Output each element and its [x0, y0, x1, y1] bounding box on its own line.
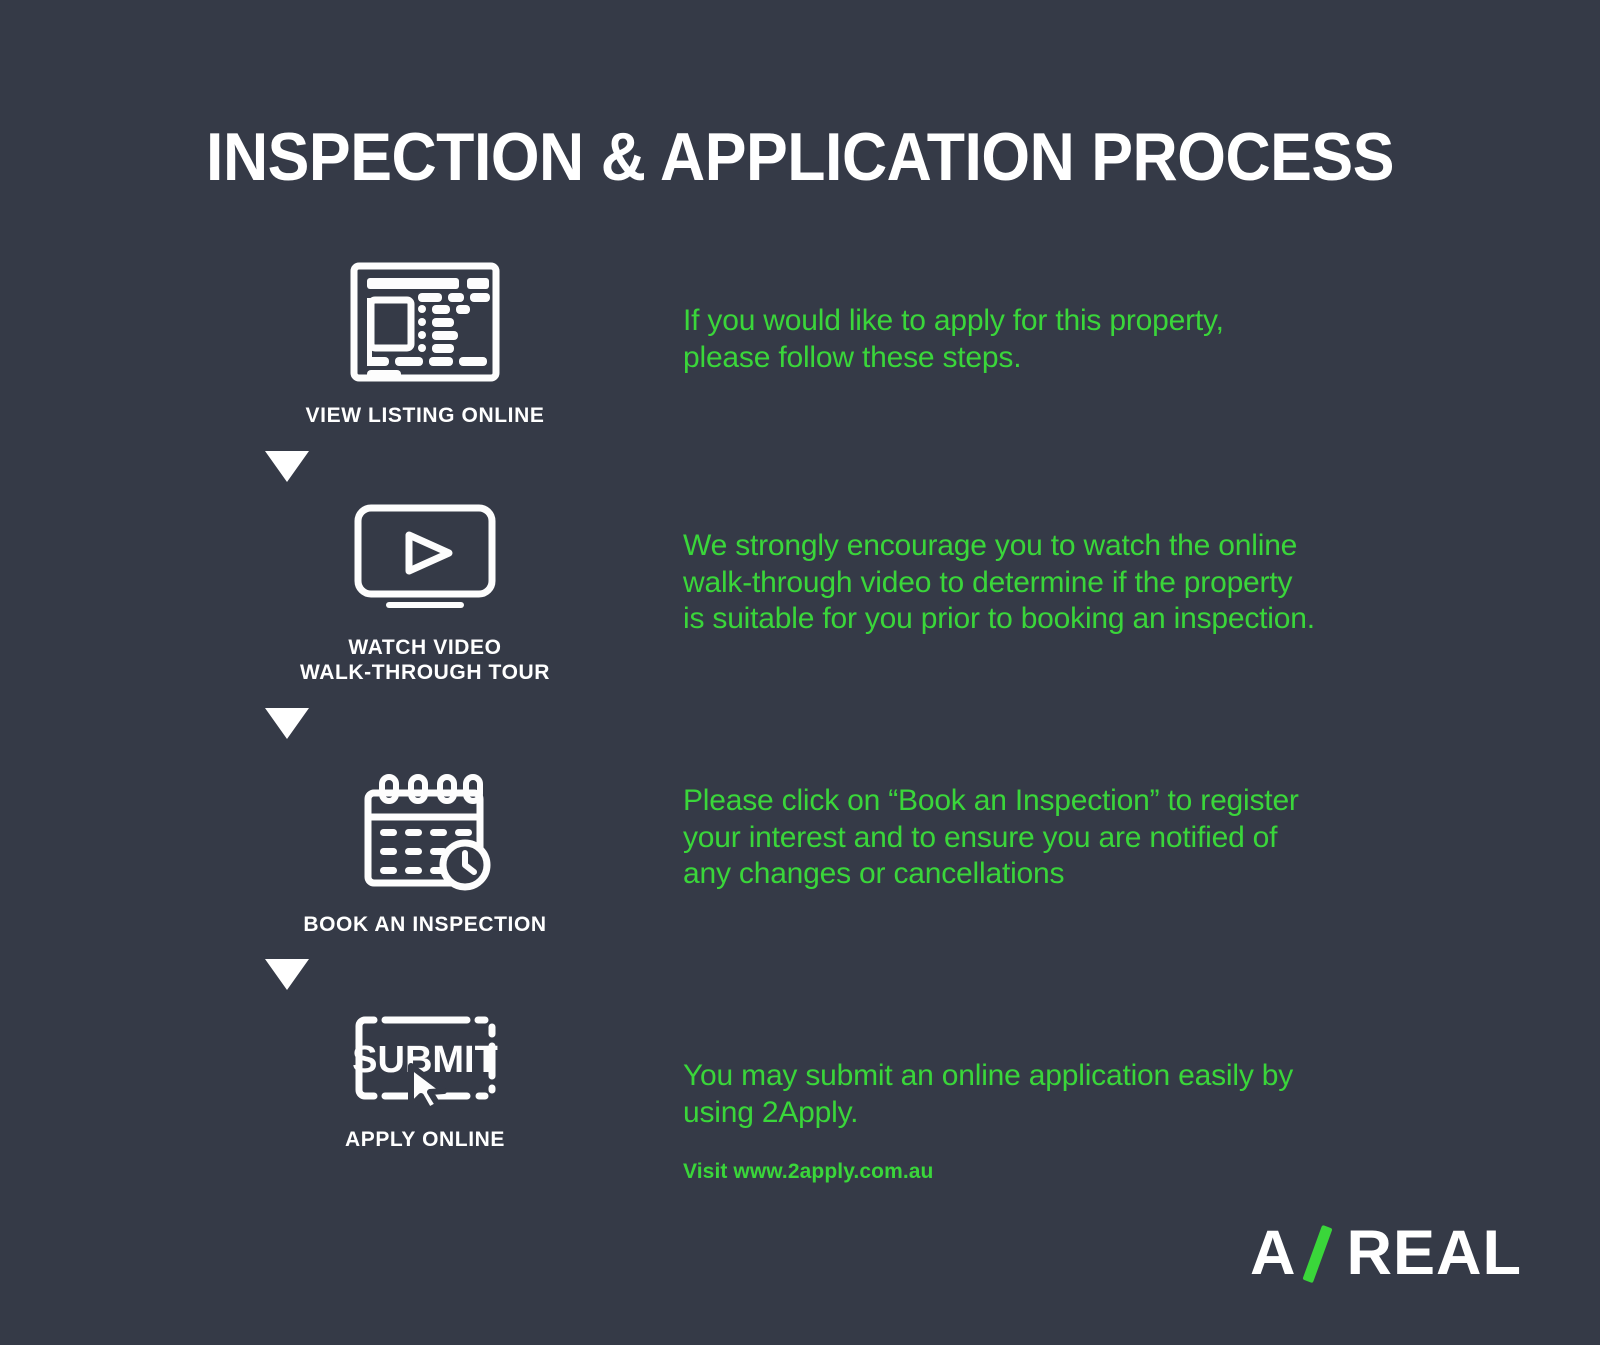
step-label: WATCH VIDEO WALK-THROUGH TOUR — [300, 635, 550, 686]
step-watch-video[interactable]: WATCH VIDEO WALK-THROUGH TOUR — [265, 502, 585, 686]
step-label: BOOK AN INSPECTION — [303, 912, 546, 938]
page-title: INSPECTION & APPLICATION PROCESS — [64, 118, 1536, 196]
calendar-clock-icon — [350, 759, 500, 896]
flow-arrow-down-icon — [265, 451, 309, 482]
step-label: APPLY ONLINE — [345, 1127, 505, 1153]
logo-word-real: REAL — [1347, 1222, 1523, 1285]
infographic-page: INSPECTION & APPLICATION PROCESS — [0, 0, 1600, 1345]
note-video: We strongly encourage you to watch the o… — [683, 528, 1315, 638]
step-label: VIEW LISTING ONLINE — [306, 403, 545, 429]
note-apply: You may submit an online application eas… — [683, 1058, 1293, 1131]
logo-slash-icon — [1299, 1223, 1339, 1283]
step-book-inspection[interactable]: BOOK AN INSPECTION — [265, 759, 585, 938]
note-intro: If you would like to apply for this prop… — [683, 303, 1224, 376]
step-flow: VIEW LISTING ONLINE WATCH VIDEO WALK-THR… — [265, 262, 585, 1153]
note-inspection: Please click on “Book an Inspection” to … — [683, 783, 1299, 893]
flow-arrow-down-icon — [265, 708, 309, 739]
video-play-icon — [350, 502, 500, 619]
step-view-listing-online[interactable]: VIEW LISTING ONLINE — [265, 262, 585, 429]
flow-arrow-down-icon — [265, 959, 309, 990]
submit-button-cursor-icon: SUBMIT — [349, 1010, 501, 1111]
logo-letter-a: A — [1250, 1222, 1297, 1285]
listing-window-icon — [350, 262, 500, 387]
brand-logo[interactable]: A REAL — [1250, 1223, 1522, 1283]
step-apply-online[interactable]: SUBMIT APPLY ONLINE — [265, 1010, 585, 1153]
visit-url-link[interactable]: Visit www.2apply.com.au — [683, 1160, 934, 1184]
